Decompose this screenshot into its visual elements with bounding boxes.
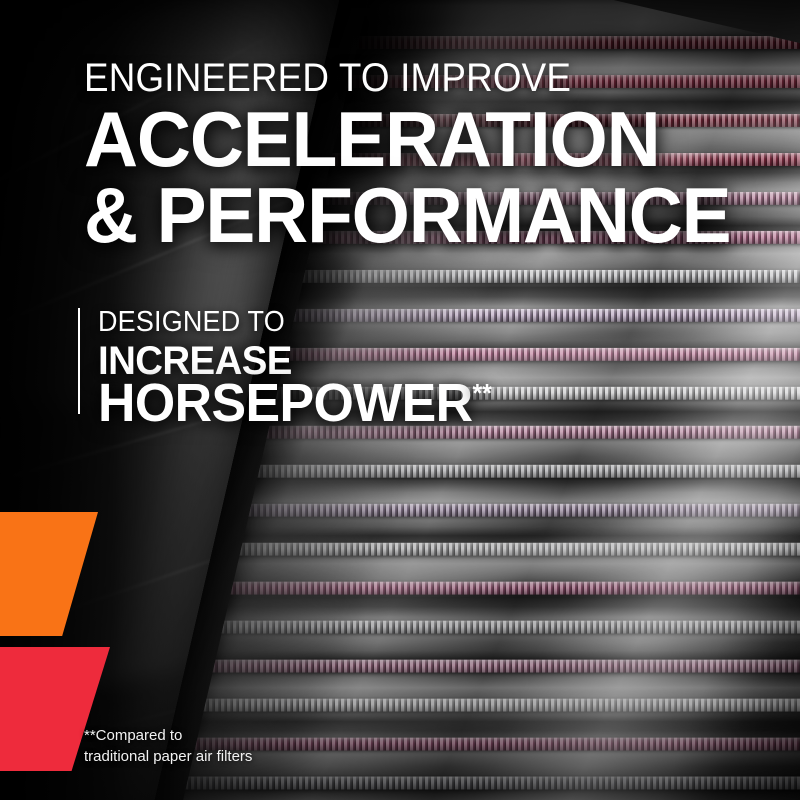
marketing-banner: ENGINEERED TO IMPROVE ACCELERATION & PER…: [0, 0, 800, 800]
footnote-line-1: **Compared to: [84, 726, 252, 747]
horsepower-footnote-marker: **: [472, 378, 491, 408]
subhead-line-horsepower: HORSEPOWER**: [98, 378, 492, 429]
subhead-eyebrow: DESIGNED TO: [98, 308, 286, 337]
subhead-horsepower-text: HORSEPOWER: [98, 373, 472, 433]
headline-line-1: ACCELERATION: [84, 104, 660, 176]
footnote-line-2: traditional paper air filters: [84, 747, 252, 768]
footnote: **Compared to traditional paper air filt…: [84, 726, 252, 767]
text-layer: ENGINEERED TO IMPROVE ACCELERATION & PER…: [0, 0, 800, 800]
headline-eyebrow: ENGINEERED TO IMPROVE: [84, 58, 571, 98]
headline-line-2: & PERFORMANCE: [84, 180, 730, 252]
subhead-block: DESIGNED TO INCREASE HORSEPOWER**: [78, 308, 300, 414]
